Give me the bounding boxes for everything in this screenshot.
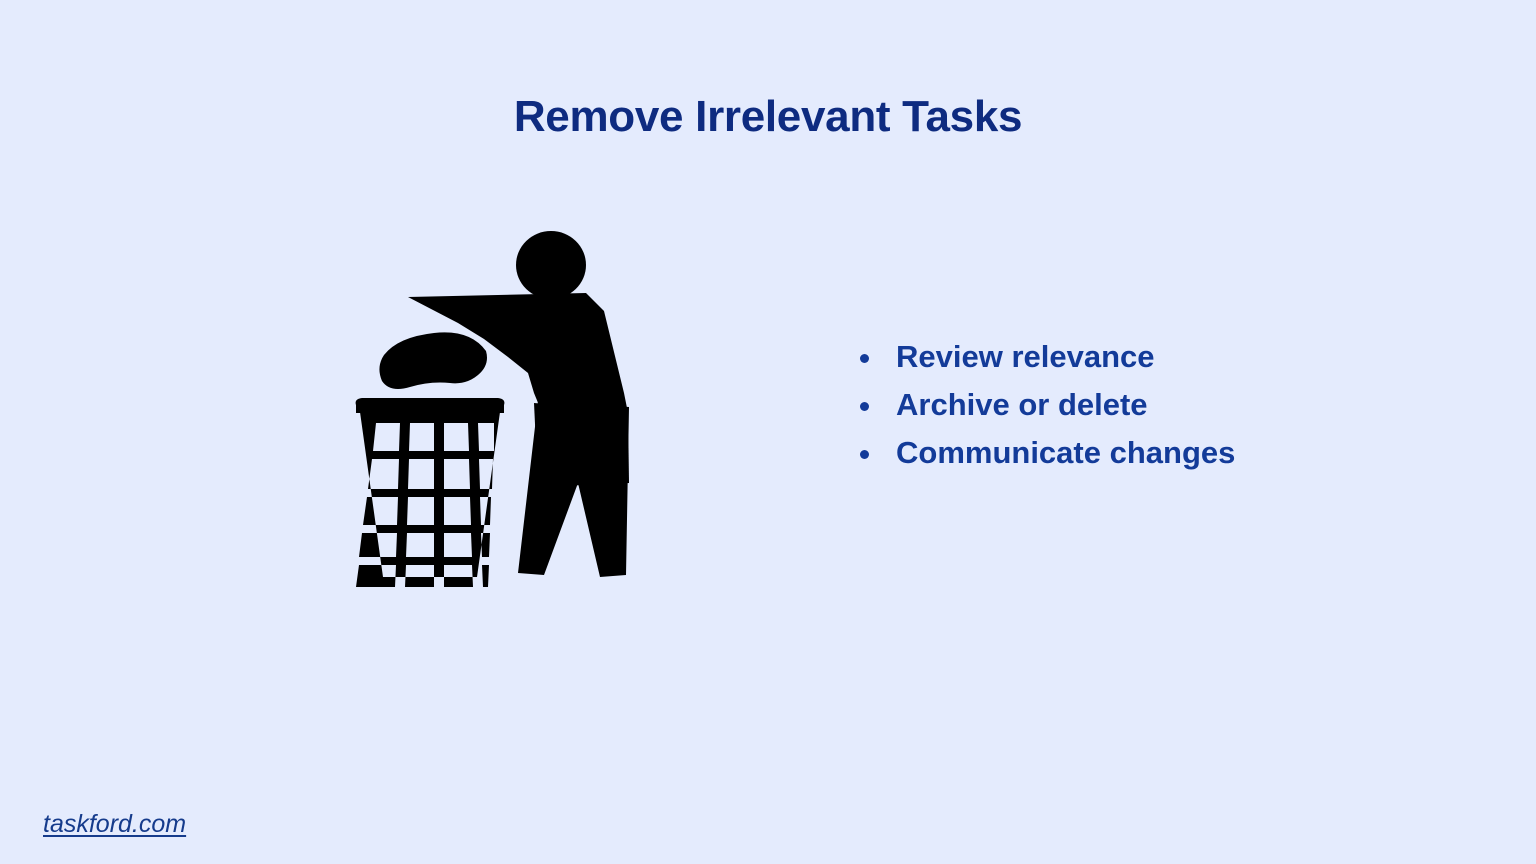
footer-website-link[interactable]: taskford.com	[43, 810, 186, 839]
discarded-paper	[379, 332, 487, 389]
list-item: Communicate changes	[852, 429, 1452, 477]
list-item-label: Communicate changes	[896, 435, 1235, 470]
bullet-dot-icon	[860, 402, 869, 411]
slide-canvas: Remove Irrelevant Tasks	[0, 0, 1536, 864]
bullet-dot-icon	[860, 354, 869, 363]
litter-bin-pictogram-icon	[338, 215, 648, 595]
list-item: Review relevance	[852, 333, 1452, 381]
bullet-list: Review relevance Archive or delete Commu…	[852, 333, 1452, 477]
figure-legs	[518, 401, 629, 577]
figure-head	[516, 231, 586, 299]
bin-rim	[356, 398, 505, 413]
list-item: Archive or delete	[852, 381, 1452, 429]
list-item-label: Archive or delete	[896, 387, 1148, 422]
list-item-label: Review relevance	[896, 339, 1155, 374]
bullet-dot-icon	[860, 450, 869, 459]
bin-body	[356, 412, 500, 587]
page-title: Remove Irrelevant Tasks	[0, 91, 1536, 144]
